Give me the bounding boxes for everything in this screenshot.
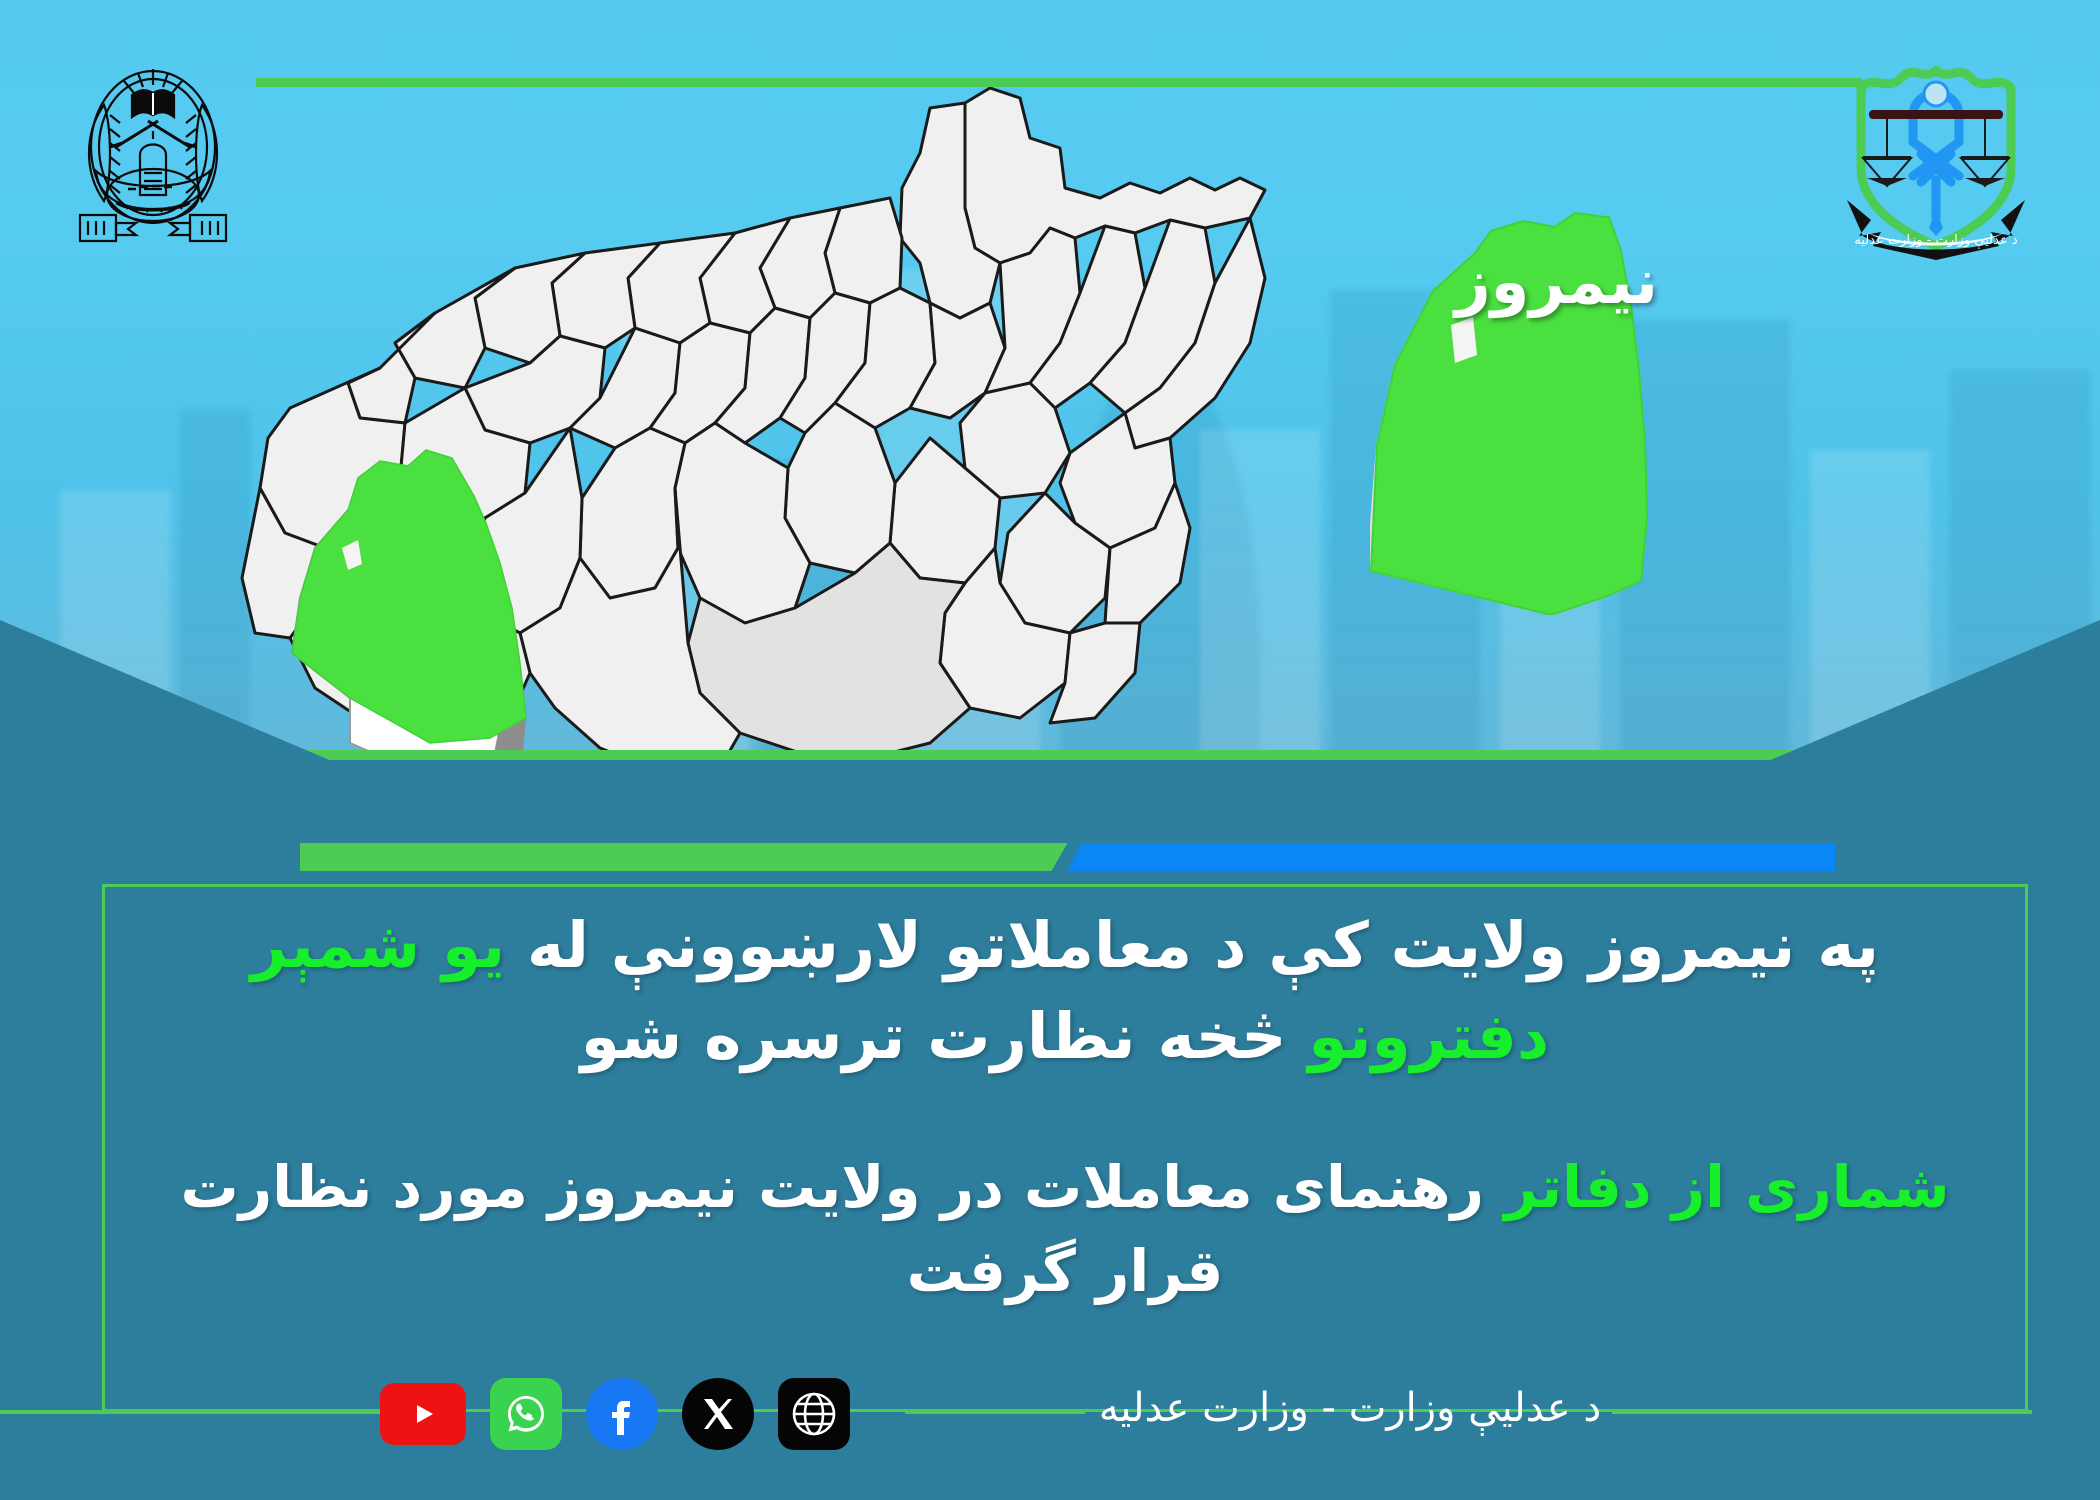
- headline-dari-part2: رهنمای معاملات در ولایت نیمروز مورد نظار…: [181, 1153, 1505, 1305]
- header-accent-line: [256, 78, 1862, 87]
- footer-ministry-name: د عدلیې وزارت - وزارت عدلیه: [1090, 1384, 1610, 1432]
- headline-pashto-part1: په نیمروز ولایت کې د معاملاتو لارښوونې ل…: [505, 909, 1879, 982]
- social-links-bar[interactable]: [380, 1378, 850, 1450]
- province-name-label: نیمروز: [1455, 245, 1658, 318]
- website-icon[interactable]: [778, 1378, 850, 1450]
- moj-ribbon-text: د عدلیې وزارت - وزارت عدلیه: [1854, 233, 2017, 249]
- header-bottom-strip: [0, 760, 2100, 790]
- national-emblem-icon: [58, 55, 248, 245]
- section-divider-ribbon: [300, 843, 1835, 871]
- youtube-icon[interactable]: [380, 1383, 466, 1445]
- x-icon[interactable]: [682, 1378, 754, 1450]
- headline-dari-accent: شماری از دفاتر: [1504, 1153, 1949, 1221]
- footer-rule-left: [0, 1410, 380, 1414]
- header-panel: نیمروز: [0, 0, 2100, 790]
- ribbon-segment-blue: [1068, 843, 1836, 871]
- footer-rule-mid: [905, 1410, 1085, 1414]
- facebook-icon[interactable]: [586, 1378, 658, 1450]
- headline-pashto-part2: څخه نظارت ترسره شو: [581, 1000, 1309, 1073]
- footer-rule-right: [1612, 1410, 2032, 1414]
- headline-dari: شماری از دفاتر رهنمای معاملات در ولایت ن…: [150, 1145, 1980, 1313]
- headline-pashto: په نیمروز ولایت کې د معاملاتو لارښوونې ل…: [150, 900, 1980, 1083]
- afghanistan-map: [230, 78, 1330, 778]
- ribbon-segment-green: [300, 843, 1068, 871]
- whatsapp-icon[interactable]: [490, 1378, 562, 1450]
- ministry-of-justice-logo: د عدلیې وزارت - وزارت عدلیه: [1833, 50, 2038, 265]
